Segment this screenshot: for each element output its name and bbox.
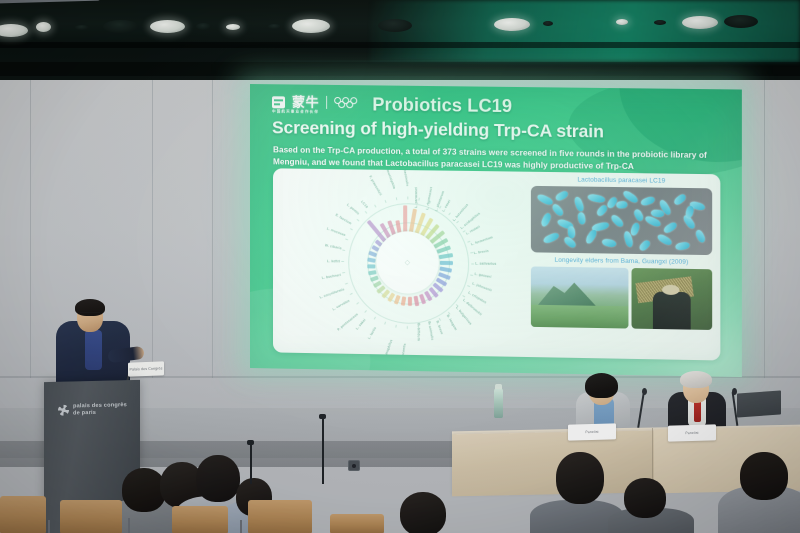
bacteria-rod [551, 203, 565, 218]
chart-tick [470, 274, 473, 275]
panelist-left-name-label: Panelist [568, 423, 616, 440]
ceiling-recess [268, 24, 281, 29]
chart-category-label: L. lactis [367, 326, 377, 340]
chair [248, 500, 312, 533]
bacteria-rod [542, 232, 560, 245]
chair [60, 500, 122, 533]
chart-tick [439, 206, 441, 209]
chart-center-hub: ◇ [376, 231, 438, 294]
bacteria-rod [554, 190, 569, 203]
audience-head [624, 478, 666, 518]
audience-head [740, 452, 788, 500]
brand-subtitle-cn: 中国航天事业合作伙伴 [272, 109, 319, 115]
chart-category-label: L. rhamnosus [425, 186, 433, 210]
elder-person-photo [632, 268, 712, 330]
ceiling-recess [196, 23, 211, 30]
bacteria-rod [633, 208, 645, 222]
microphone-boom-stand [250, 444, 252, 484]
water-bottle [494, 388, 503, 418]
chair [330, 514, 384, 533]
bacteria-rod [629, 222, 640, 237]
circular-radial-bar-chart: ◇ L. paracaseiL. rhamnosusL. plantarumL.… [293, 171, 523, 355]
chart-tick [357, 219, 360, 221]
chart-tick [470, 252, 473, 253]
chart-category-label: S. thermophilus [380, 339, 393, 361]
ceiling-light [682, 16, 718, 29]
chart-tick [407, 326, 408, 329]
microphone-boom-stand [322, 418, 324, 484]
speaker-shirt [85, 330, 102, 370]
bacteria-rod [673, 193, 688, 207]
bacteria-rod [584, 228, 598, 245]
bacteria-rod [616, 201, 628, 209]
chart-category-label: L. reuteri [465, 225, 481, 236]
chart-tick [396, 197, 397, 200]
photos-caption: Longevity elders from Bama, Guangxi (200… [531, 256, 712, 266]
panelist-right-name-label: Panelist [668, 424, 716, 441]
chart-category-label: L. coryniformis [319, 287, 345, 299]
venue-logo: palais des congrès de paris [58, 402, 127, 418]
speaker-glasses-icon [80, 312, 100, 318]
ceiling-recess [103, 20, 139, 33]
chart-category-label: L. casei [441, 199, 451, 213]
audience-head [400, 492, 446, 533]
chart-category-label: L. mucosae [326, 226, 346, 237]
chart-category-label: L. paracasei [414, 187, 418, 208]
chart-tick [462, 295, 465, 297]
bacteria-rod [675, 241, 690, 250]
chart-category-label: B. longum [446, 314, 458, 331]
chart-category-label: LC19 [360, 200, 369, 209]
chart-category-label: B. animalis [427, 321, 434, 341]
chart-category-label: L. helveticus [452, 203, 469, 222]
chart-tick [365, 310, 367, 313]
chart-category-label: B. breve [435, 320, 444, 335]
mountain-shape [537, 280, 598, 308]
ceiling-light [494, 18, 530, 31]
panelist-left-name-card: Panelist [568, 423, 616, 440]
venue-logo-icon [58, 405, 69, 416]
presentation-slide: 蒙牛 中国航天事业合作伙伴 Probiotics LC19 Screenin [250, 84, 742, 377]
ceiling-light [292, 19, 330, 33]
wall-panel-seam [152, 78, 153, 378]
photo-pair [531, 266, 712, 330]
chart-tick [407, 196, 408, 199]
chart-tick [342, 272, 345, 273]
chair-leg [240, 520, 242, 533]
chart-tick [342, 250, 345, 251]
chart-category-label: L. gasseri [474, 272, 492, 279]
chart-category-label: R. intestinalis [402, 168, 410, 186]
ceiling-light [616, 19, 628, 25]
bottle-cap [495, 384, 502, 389]
chart-tick [385, 200, 387, 203]
bacteria-rod [536, 193, 554, 206]
podium-name-card: Palais des Congrès [128, 361, 164, 376]
chart-category-label: L. salivarius [475, 262, 496, 266]
chart-bar [408, 297, 412, 306]
brand-lockup: 蒙牛 [272, 95, 357, 109]
chart-tick [341, 261, 344, 262]
ceiling-recess [724, 15, 758, 28]
bacteria-rod [638, 239, 652, 253]
bacteria-rod [587, 193, 605, 203]
chart-tick [350, 229, 353, 231]
chart-category-label: A. muciniphila [384, 168, 396, 189]
brand-name-cn: 蒙牛 [292, 95, 319, 108]
ceiling-recess [654, 20, 666, 25]
chair [0, 496, 46, 533]
panelist-right-hair [680, 371, 712, 388]
ceiling-light [226, 24, 240, 30]
card-right-column: Lactobacillus paracasei LC19 Longevity e… [531, 176, 712, 330]
bacteria-rod [656, 233, 673, 247]
bacteria-rod [685, 205, 695, 219]
micrograph-caption: Lactobacillus paracasei LC19 [531, 176, 712, 186]
olympic-rings-icon [334, 97, 357, 108]
bacteria-rod [577, 212, 586, 225]
ceiling-green-spill [370, 0, 800, 62]
slide-content-card: ◇ L. paracaseiL. rhamnosusL. plantarumL.… [273, 168, 720, 360]
chart-tick [357, 302, 360, 304]
slide-title: Probiotics LC19 [372, 94, 512, 117]
panelist-right-tie [694, 400, 701, 422]
ceiling-beam [0, 42, 800, 48]
chart-category-label: L. buchneri [321, 273, 341, 280]
ceiling-recess [378, 19, 412, 32]
chart-bar [367, 264, 375, 268]
chart-category-label: B. adolescentis [398, 343, 407, 360]
bacteria-rod [601, 238, 616, 248]
microphone-head [247, 440, 254, 445]
chart-tick [456, 221, 459, 223]
bacteria-rod [640, 195, 656, 206]
chart-category-label: B. bifidum [416, 323, 420, 341]
chart-bar [440, 261, 453, 266]
chart-category-label: W. cibaria [325, 243, 342, 250]
ceiling-light [150, 20, 185, 33]
panelist-right-name-card: Panelist [668, 424, 716, 441]
chart-tick [374, 317, 376, 320]
audience-head [556, 452, 604, 504]
chart-hub-glyph: ◇ [405, 258, 411, 266]
chart-category-label: L. kefiri [327, 259, 340, 263]
chart-category-label: L. sakei [355, 318, 367, 331]
olympic-ring [346, 101, 353, 108]
conference-photo: 蒙牛 中国航天事业合作伙伴 Probiotics LC19 Screenin [0, 0, 800, 533]
venue-logo-line1: palais des congrès [73, 402, 127, 409]
bacteria-rod [595, 204, 608, 218]
wall-panel-seam [30, 78, 31, 378]
chart-tick [396, 325, 397, 328]
wall-panel-seam [764, 78, 765, 378]
venue-logo-text: palais des congrès de paris [73, 402, 127, 417]
chart-category-label: L. johnsonii [472, 281, 493, 292]
landscape-photo [531, 266, 629, 328]
chart-tick [418, 198, 419, 201]
ceiling-recess [543, 21, 553, 26]
ceiling-light [36, 22, 51, 32]
chart-tick [345, 283, 348, 284]
chart-category-label: L. fermentum [470, 235, 493, 246]
microphone-head [319, 414, 326, 419]
field-shape [531, 305, 629, 328]
chart-tick [365, 211, 367, 214]
bacteria-rod [567, 226, 575, 239]
chart-tick [471, 263, 474, 264]
slide-subtitle: Screening of high-yielding Trp-CA strain [272, 117, 604, 142]
wall-vent-icon [348, 460, 360, 471]
chart-tick [350, 293, 353, 295]
chair-leg [48, 520, 50, 533]
chart-category-label: L. curvatus [332, 298, 351, 311]
projection-screen: 蒙牛 中国航天事业合作伙伴 Probiotics LC19 Screenin [250, 84, 742, 377]
chart-tick [345, 239, 348, 241]
panelist-left-hair [585, 373, 618, 398]
bacteria-rod [694, 229, 706, 244]
panelist-left-mic [642, 388, 647, 395]
audience-head [196, 455, 240, 502]
mengniu-mark-icon [272, 96, 285, 108]
micrograph-image [531, 186, 712, 255]
bacteria-rod [610, 213, 625, 228]
chart-category-label: E. faecium [335, 213, 353, 226]
chair [172, 506, 228, 533]
chart-bar [403, 205, 407, 232]
bacteria-rod [573, 196, 585, 213]
chart-category-label: L. pontis [346, 203, 360, 216]
bacteria-rod [662, 221, 678, 235]
chart-tick [448, 212, 450, 215]
venue-logo-line2: de paris [73, 410, 96, 417]
ceiling-recess [75, 25, 89, 30]
chart-tick [467, 285, 470, 287]
chart-tick [385, 322, 387, 325]
wall-panel-seam [212, 78, 213, 378]
chart-category-label: F. prausnitzii [368, 175, 383, 196]
brand-divider [326, 96, 327, 109]
podium-name-card-label: Palais des Congrès [128, 361, 164, 376]
bacteria-rod [540, 212, 552, 228]
laptop [737, 390, 781, 417]
chart-tick [374, 205, 376, 208]
olympic-ring [338, 101, 345, 108]
chair-leg [128, 518, 130, 533]
person-body [653, 291, 692, 329]
chart-category-label: L. brevis [474, 249, 490, 255]
bacteria-rod [651, 209, 665, 217]
